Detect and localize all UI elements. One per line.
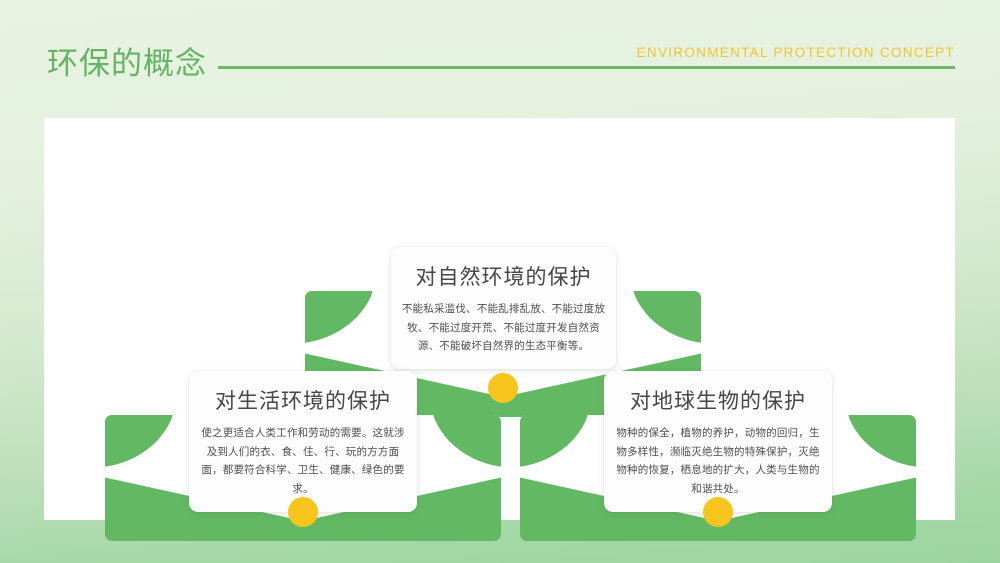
envelope-card-earth-organisms[interactable]: 对地球生物的保护 物种的保全，植物的养护，动物的回归，生物多样性，濒临灭绝生物的… <box>520 371 916 541</box>
page-title: 环保的概念 <box>47 38 207 83</box>
envelope-clasp-icon <box>703 497 733 527</box>
content-panel: 对自然环境的保护 不能私采滥伐、不能乱排乱放、不能过度放牧、不能过度开荒、不能过… <box>44 118 955 520</box>
card-body-text: 物种的保全，植物的养护，动物的回归，生物多样性，濒临灭绝生物的特殊保护，灭绝物种… <box>613 424 823 499</box>
card-body-text: 使之更适合人类工作和劳动的需要。这就涉及到人们的衣、食、住、行、玩的方方面面，都… <box>198 424 408 499</box>
envelope-note-card: 对自然环境的保护 不能私采滥伐、不能乱排乱放、不能过度放牧、不能过度开荒、不能过… <box>391 247 616 369</box>
header-divider-rule <box>218 66 955 69</box>
envelope-card-living-environment[interactable]: 对生活环境的保护 使之更适合人类工作和劳动的需要。这就涉及到人们的衣、食、住、行… <box>105 371 501 541</box>
page-subtitle-english: ENVIRONMENTAL PROTECTION CONCEPT <box>637 45 955 60</box>
card-body-text: 不能私采滥伐、不能乱排乱放、不能过度放牧、不能过度开荒、不能过度开发自然资源、不… <box>400 300 607 356</box>
envelope-clasp-icon <box>288 497 318 527</box>
envelope-note-card: 对地球生物的保护 物种的保全，植物的养护，动物的回归，生物多样性，濒临灭绝生物的… <box>604 371 832 512</box>
card-title: 对生活环境的保护 <box>198 385 408 415</box>
card-title: 对地球生物的保护 <box>613 385 823 415</box>
slide-canvas: 环保的概念 ENVIRONMENTAL PROTECTION CONCEPT 对… <box>0 0 1000 563</box>
envelope-note-card: 对生活环境的保护 使之更适合人类工作和劳动的需要。这就涉及到人们的衣、食、住、行… <box>189 371 417 512</box>
card-title: 对自然环境的保护 <box>400 261 607 291</box>
slide-header: 环保的概念 ENVIRONMENTAL PROTECTION CONCEPT <box>0 0 1000 110</box>
